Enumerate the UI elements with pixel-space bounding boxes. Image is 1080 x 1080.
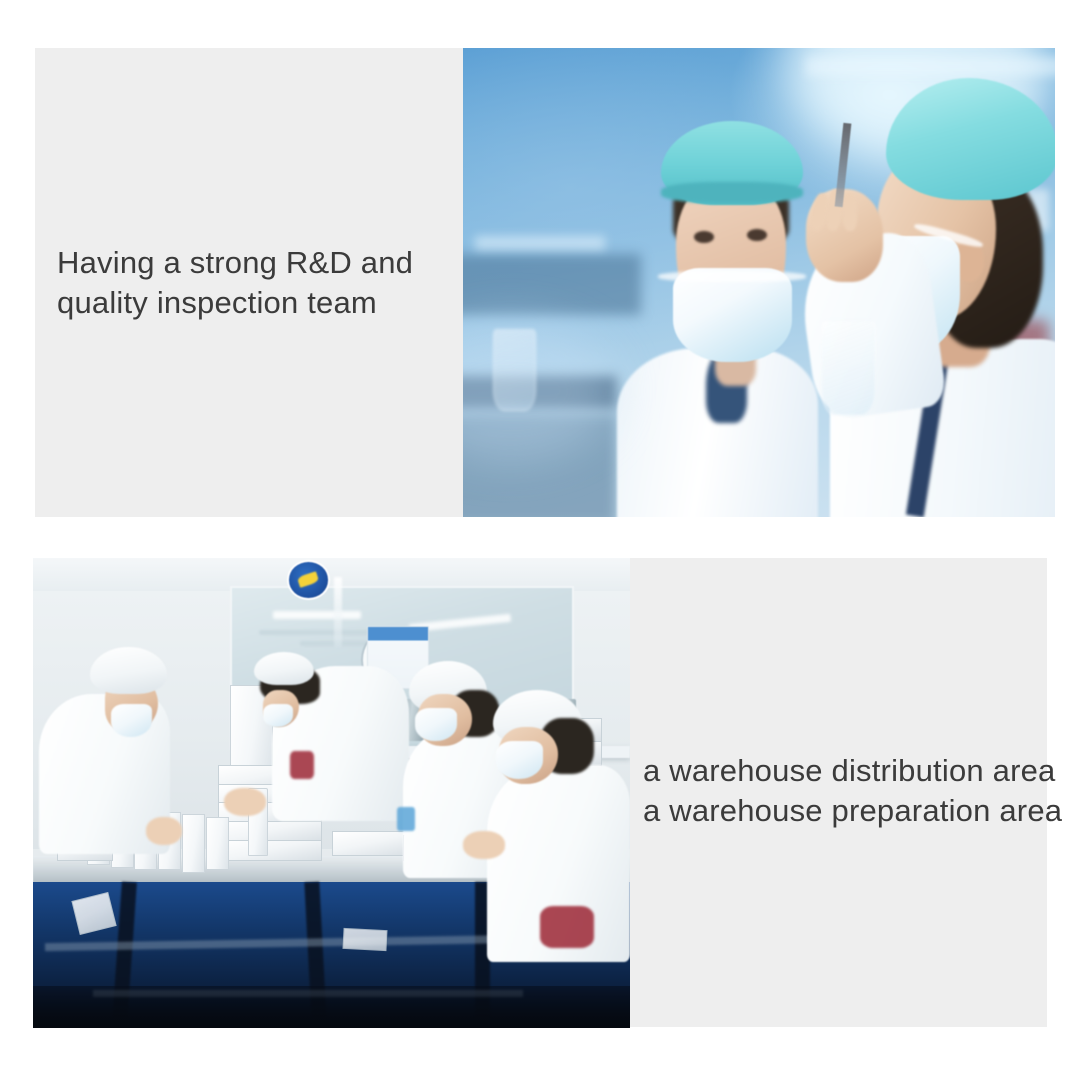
top-caption-line-2: quality inspection team xyxy=(57,283,413,323)
worker-2-hand xyxy=(224,788,266,816)
worker-3-blue-item xyxy=(397,807,415,831)
bottom-caption-text: a warehouse distribution area a warehous… xyxy=(643,751,1062,831)
lab-photo-content xyxy=(463,48,1055,517)
bottom-caption-line-2: a warehouse preparation area xyxy=(643,791,1062,831)
technician-left-eye-right xyxy=(747,229,767,241)
lab-upper-shelf xyxy=(806,57,1055,76)
technician-left-mask-strap xyxy=(658,271,806,283)
lab-inspection-photo xyxy=(463,48,1055,517)
worker-2-face-mask xyxy=(263,704,293,728)
worker-3-face-mask xyxy=(415,708,457,741)
worker-2-red-item xyxy=(290,751,314,779)
lab-shelf-mid xyxy=(475,236,605,250)
technician-left-face-mask xyxy=(673,268,791,362)
box-stack-tall-left-5 xyxy=(218,840,321,861)
box-upright-6 xyxy=(206,817,229,871)
worker-1-hairnet xyxy=(90,647,168,694)
worker-1-hand xyxy=(146,817,182,845)
worker-1-face-mask xyxy=(111,704,153,737)
worker-2-hairnet xyxy=(254,652,314,685)
box-flat-front-2 xyxy=(332,831,412,857)
box-stack-tall-left-4 xyxy=(218,821,321,842)
top-caption-text: Having a strong R&D and quality inspecti… xyxy=(57,243,413,323)
bottom-caption-line-1: a warehouse distribution area xyxy=(643,751,1062,791)
finger-3 xyxy=(841,193,858,231)
worker-4-face-mask xyxy=(496,741,544,779)
box-upright-5 xyxy=(182,814,205,872)
top-caption-line-1: Having a strong R&D and xyxy=(57,243,413,283)
technician-left-eye-left xyxy=(694,231,714,243)
paper-scrap-2 xyxy=(343,928,388,951)
technician-left-hairnet-band xyxy=(661,182,803,203)
worker-4-red-item xyxy=(540,906,594,948)
glass-beaker xyxy=(821,320,876,416)
hanging-strip-curtain xyxy=(334,577,341,648)
lab-bench-left xyxy=(463,254,641,315)
ceiling-light-1 xyxy=(273,611,361,619)
product-info-collage: Having a strong R&D and quality inspecti… xyxy=(0,0,1080,1080)
warehouse-packaging-photo xyxy=(33,558,630,1028)
worker-4-hand xyxy=(463,831,505,859)
floor-shadow xyxy=(33,986,630,1028)
blue-circular-sign xyxy=(287,560,330,599)
warehouse-photo-content xyxy=(33,558,630,1028)
